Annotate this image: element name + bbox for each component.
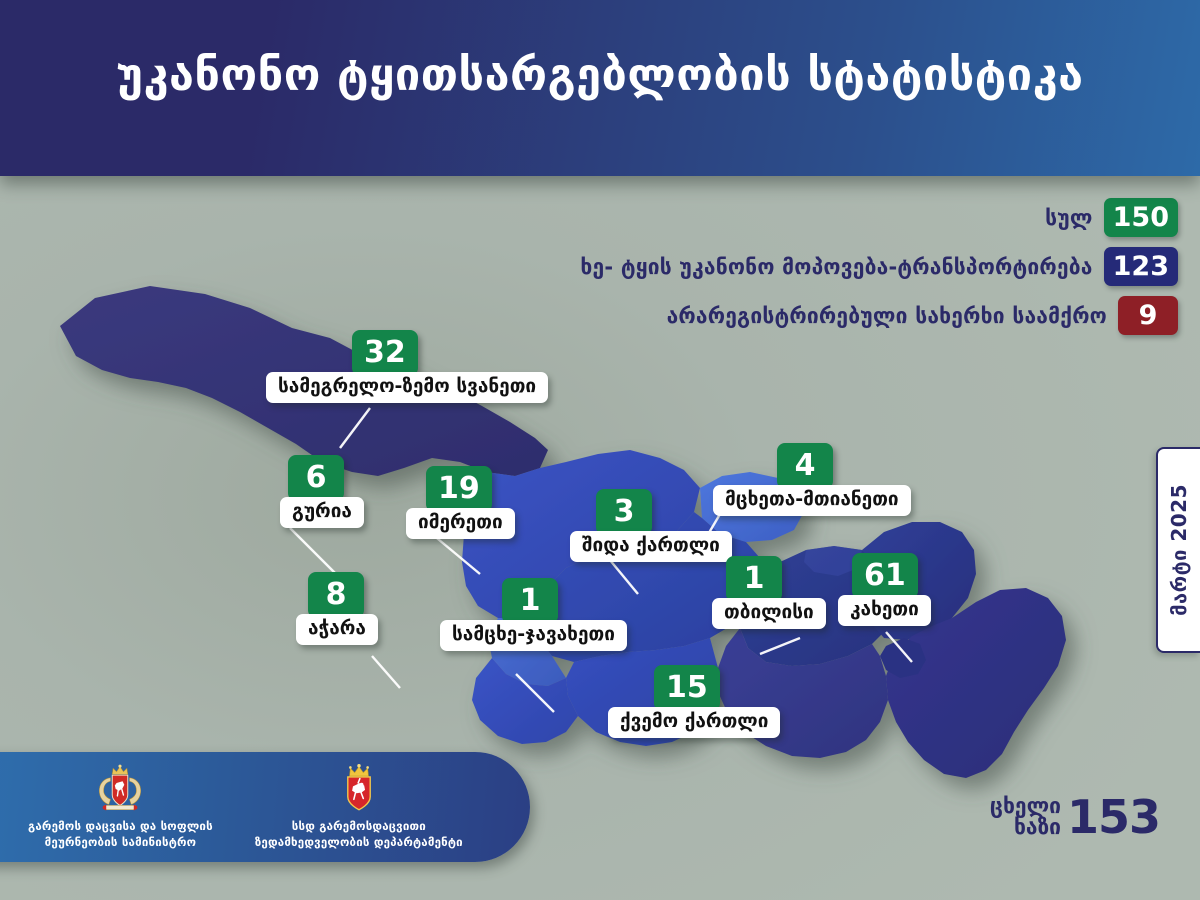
region-marker-samtskhe-javakheti: 1 სამცხე-ჯავახეთი: [440, 578, 627, 651]
region-marker-kakheti: 61 კახეთი: [838, 553, 931, 626]
header-banner: უკანონო ტყითსარგებლობის სტატისტიკა: [0, 0, 1200, 176]
legend-row-unregistered: არარეგისტრირებული სახერხი საამქრო 9: [667, 296, 1178, 335]
org-department: სსდ გარემოსდაცვითი ზედამხედველობის დეპარ…: [255, 764, 463, 850]
region-value-ajara: 8: [308, 572, 364, 618]
region-name-ajara: აჭარა: [296, 614, 378, 645]
legend: სულ 150 ხე- ტყის უკანონო მოპოვება-ტრანსპ…: [580, 198, 1178, 335]
page-title: უკანონო ტყითსარგებლობის სტატისტიკა: [116, 50, 1083, 126]
region-value-tbilisi: 1: [726, 556, 782, 602]
hotline-number: 153: [1067, 796, 1160, 838]
region-name-kakheti: კახეთი: [838, 595, 931, 626]
org-ministry-caption: გარემოს დაცვისა და სოფლის მეურნეობის სამ…: [28, 819, 213, 850]
region-value-samegrelo-zemo-svaneti: 32: [352, 330, 418, 376]
region-marker-guria: 6 გურია: [280, 455, 364, 528]
region-name-shida-kartli: შიდა ქართლი: [570, 531, 732, 562]
region-name-tbilisi: თბილისი: [712, 598, 826, 629]
legend-label-total: სულ: [1045, 206, 1093, 230]
region-value-imereti: 19: [426, 466, 492, 512]
infographic-page: უკანონო ტყითსარგებლობის სტატისტიკა: [0, 0, 1200, 900]
legend-value-unregistered: 9: [1118, 296, 1178, 335]
region-name-mtskheta-mtianeti: მცხეთა-მთიანეთი: [713, 485, 911, 516]
region-value-shida-kartli: 3: [596, 489, 652, 535]
environmental-supervision-emblem-icon: [333, 764, 385, 814]
hotline-label: ცხელი ხაზი: [990, 796, 1061, 838]
region-marker-shida-kartli: 3 შიდა ქართლი: [570, 489, 732, 562]
region-value-kvemo-kartli: 15: [654, 665, 720, 711]
date-panel: მარტი 2025: [1156, 447, 1200, 653]
region-marker-mtskheta-mtianeti: 4 მცხეთა-მთიანეთი: [713, 443, 911, 516]
leader-line-ajara: [372, 656, 400, 688]
legend-label-unregistered: არარეგისტრირებული სახერხი საამქრო: [667, 304, 1107, 328]
legend-label-transport: ხე- ტყის უკანონო მოპოვება-ტრანსპორტირება: [580, 255, 1092, 279]
leader-line-guria: [290, 528, 340, 578]
region-marker-kvemo-kartli: 15 ქვემო ქართლი: [608, 665, 780, 738]
region-value-samtskhe-javakheti: 1: [502, 578, 558, 624]
region-name-samtskhe-javakheti: სამცხე-ჯავახეთი: [440, 620, 627, 651]
georgia-coat-of-arms-icon: [94, 764, 146, 814]
region-value-guria: 6: [288, 455, 344, 501]
region-value-kakheti: 61: [852, 553, 918, 599]
region-marker-samegrelo-zemo-svaneti: 32 სამეგრელო-ზემო სვანეთი: [266, 330, 548, 403]
org-department-caption: სსდ გარემოსდაცვითი ზედამხედველობის დეპარ…: [255, 819, 463, 850]
region-name-kvemo-kartli: ქვემო ქართლი: [608, 707, 780, 738]
footer-banner: გარემოს დაცვისა და სოფლის მეურნეობის სამ…: [0, 752, 530, 862]
map-region-tbilisi: [880, 638, 926, 678]
region-name-samegrelo-zemo-svaneti: სამეგრელო-ზემო სვანეთი: [266, 372, 548, 403]
region-value-mtskheta-mtianeti: 4: [777, 443, 833, 489]
map-regions-group: [60, 286, 1066, 778]
legend-value-total: 150: [1104, 198, 1178, 237]
region-marker-ajara: 8 აჭარა: [296, 572, 378, 645]
hotline: ცხელი ხაზი 153: [990, 796, 1160, 838]
date-label: მარტი 2025: [1167, 484, 1191, 616]
org-ministry: გარემოს დაცვისა და სოფლის მეურნეობის სამ…: [28, 764, 213, 850]
legend-row-transport: ხე- ტყის უკანონო მოპოვება-ტრანსპორტირება…: [580, 247, 1178, 286]
region-marker-imereti: 19 იმერეთი: [406, 466, 515, 539]
legend-value-transport: 123: [1104, 247, 1178, 286]
legend-row-total: სულ 150: [1045, 198, 1178, 237]
region-marker-tbilisi: 1 თბილისი: [712, 556, 826, 629]
region-name-guria: გურია: [280, 497, 364, 528]
region-name-imereti: იმერეთი: [406, 508, 515, 539]
